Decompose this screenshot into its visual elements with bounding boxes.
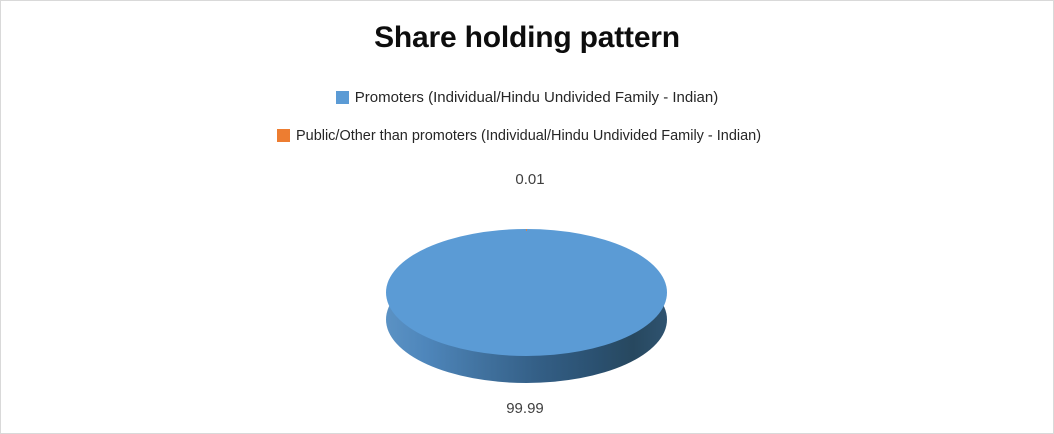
chart-legend: Promoters (Individual/Hindu Undivided Fa… xyxy=(1,85,1053,161)
pie-chart-3d[interactable] xyxy=(386,229,667,384)
legend-item-public[interactable]: Public/Other than promoters (Individual/… xyxy=(277,123,778,147)
pie-slice-public[interactable] xyxy=(526,229,527,231)
legend-label-public: Public/Other than promoters (Individual/… xyxy=(296,128,761,143)
chart-container: Share holding pattern Promoters (Individ… xyxy=(0,0,1054,434)
data-label-large-slice: 99.99 xyxy=(445,401,605,416)
legend-swatch-promoters-icon xyxy=(336,91,349,104)
data-label-small-slice: 0.01 xyxy=(450,172,610,187)
pie-slice-promoters[interactable] xyxy=(386,229,667,356)
legend-item-promoters[interactable]: Promoters (Individual/Hindu Undivided Fa… xyxy=(336,85,719,109)
legend-swatch-public-icon xyxy=(277,129,290,142)
legend-label-promoters: Promoters (Individual/Hindu Undivided Fa… xyxy=(355,90,719,105)
chart-title: Share holding pattern xyxy=(1,21,1053,54)
